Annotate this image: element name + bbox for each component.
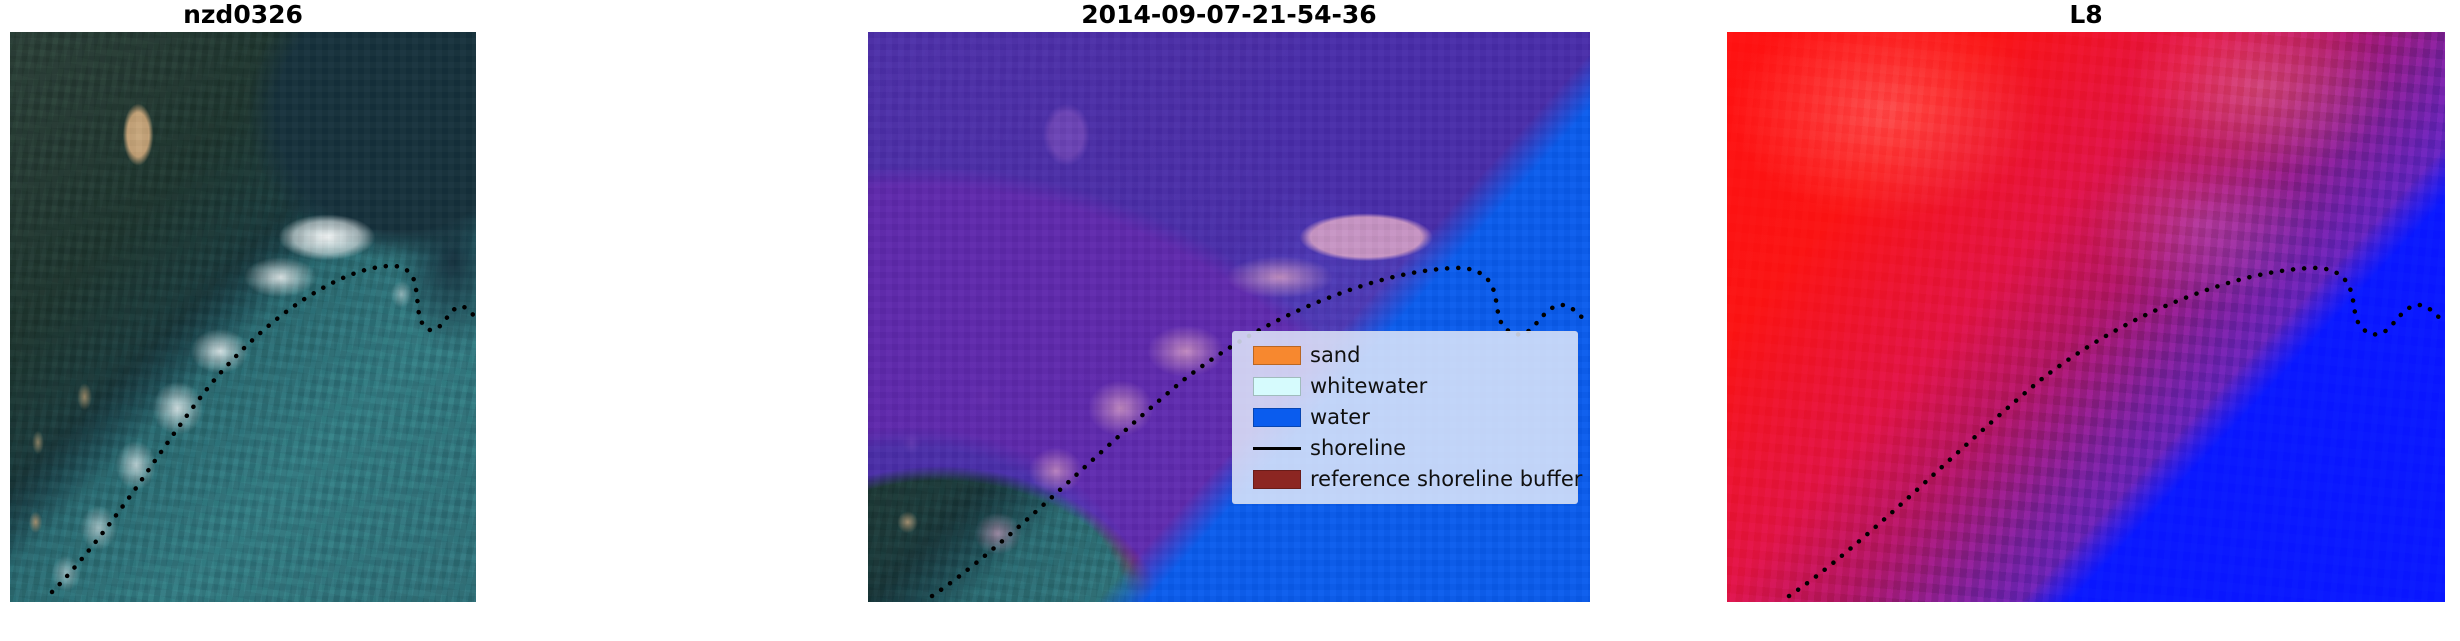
panel-title-site-rgb: nzd0326 <box>10 0 476 32</box>
legend-swatch-cell-whitewater <box>1244 377 1310 396</box>
panel-l8-index: L8 <box>1727 0 2445 641</box>
legend-item-shoreline: shoreline <box>1244 434 1564 463</box>
legend-swatch-cell-reference-shoreline-buffer <box>1244 470 1310 489</box>
whitewater-swatch-icon <box>1253 377 1301 396</box>
legend-label-water: water <box>1310 407 1370 428</box>
legend-box: sand whitewater water <box>1232 331 1578 504</box>
water-swatch-icon <box>1253 408 1301 427</box>
panel-title-l8-index: L8 <box>1727 0 2445 32</box>
legend-swatch-cell-water <box>1244 408 1310 427</box>
pixel-grain-layer <box>868 32 1590 602</box>
legend-item-sand: sand <box>1244 341 1564 370</box>
figure-root: nzd0326 2014-09-07-21-54-36 <box>0 0 2460 641</box>
panel-title-classified-overlay: 2014-09-07-21-54-36 <box>868 0 1590 32</box>
legend-swatch-cell-shoreline <box>1244 447 1310 450</box>
legend-swatch-cell-sand <box>1244 346 1310 365</box>
panel-image-site-rgb <box>10 32 476 602</box>
panel-site-rgb: nzd0326 <box>10 0 476 641</box>
legend-label-reference-shoreline-buffer: reference shoreline buffer <box>1310 469 1582 490</box>
legend-item-whitewater: whitewater <box>1244 372 1564 401</box>
panel-classified-overlay: 2014-09-07-21-54-36 sand <box>868 0 1590 641</box>
panel-image-classified-overlay: sand whitewater water <box>868 32 1590 602</box>
legend-item-water: water <box>1244 403 1564 432</box>
legend-item-reference-shoreline-buffer: reference shoreline buffer <box>1244 465 1564 494</box>
legend-label-sand: sand <box>1310 345 1360 366</box>
l8-texture-layer <box>1727 32 2445 602</box>
pixel-grain-layer <box>10 32 476 602</box>
legend-label-whitewater: whitewater <box>1310 376 1427 397</box>
sand-swatch-icon <box>1253 346 1301 365</box>
legend-label-shoreline: shoreline <box>1310 438 1406 459</box>
panel-image-l8-index <box>1727 32 2445 602</box>
reference-shoreline-buffer-swatch-icon <box>1253 470 1301 489</box>
shoreline-line-icon <box>1253 447 1301 450</box>
